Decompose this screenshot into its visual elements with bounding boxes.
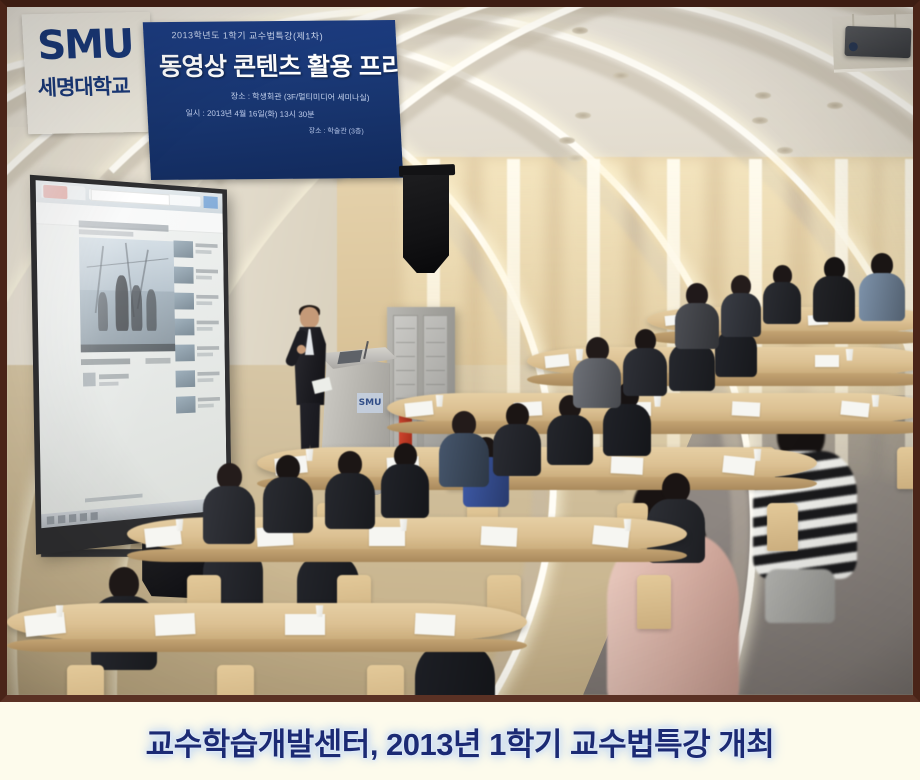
handout-paper — [815, 355, 839, 367]
lecturer-handout — [312, 377, 333, 394]
audience-torso — [547, 415, 593, 465]
audience-torso — [623, 348, 667, 396]
related-thumbnail — [176, 370, 196, 387]
audience-member — [721, 275, 761, 341]
audience-torso — [325, 473, 375, 529]
banner-venue: 장소 : 학생회관 (3F/멀티미디어 세미나실) — [231, 91, 390, 104]
taskbar-icon — [69, 514, 76, 523]
handout-paper — [404, 401, 433, 418]
chair-back — [637, 575, 671, 629]
related-thumbnail — [174, 293, 194, 310]
handout-paper — [154, 613, 195, 636]
paper-cup — [871, 395, 880, 407]
lectern-logo: SMU — [357, 393, 383, 413]
audience-torso — [675, 303, 719, 349]
youtube-related-item — [174, 293, 221, 316]
chair-back — [67, 665, 104, 695]
audience-torso — [763, 282, 801, 324]
handout-paper — [592, 525, 630, 548]
video-figure — [131, 285, 143, 331]
youtube-logo-icon — [43, 185, 67, 199]
taskbar-icon — [58, 515, 65, 524]
audience-member — [675, 283, 719, 353]
video-figure — [115, 275, 129, 331]
ceiling-downlight-icon — [827, 102, 843, 109]
handout-paper — [544, 354, 569, 368]
taskbar-icon — [91, 512, 98, 520]
audience-torso — [439, 433, 489, 487]
related-title — [195, 243, 217, 248]
related-channel — [197, 378, 213, 382]
banner-title: 동영상 콘텐츠 활용 프리젠테이션 — [158, 47, 388, 83]
chair-back — [367, 665, 404, 695]
related-channel — [196, 276, 212, 280]
related-channel — [197, 327, 213, 331]
youtube-related-item — [176, 370, 223, 393]
attendee-trousers — [765, 569, 835, 623]
ceiling-projector — [844, 26, 911, 58]
youtube-related-item — [176, 395, 223, 419]
related-title — [196, 295, 218, 299]
youtube-related-item — [174, 240, 221, 264]
desk-row — [7, 603, 527, 641]
audience-member — [623, 329, 667, 400]
youtube-related-item — [174, 267, 221, 290]
audience-member — [263, 455, 313, 537]
chair-back — [217, 665, 254, 695]
youtube-signin-button — [203, 196, 217, 209]
wall-speaker — [403, 175, 449, 273]
photo-caption: 교수학습개발센터, 2013년 1학기 교수법특강 개최 — [146, 719, 775, 764]
audience-torso — [813, 276, 855, 322]
banner-date: 일시 : 2013년 4월 16일(화) 13시 30분 — [185, 108, 390, 121]
video-progress-bar — [81, 344, 176, 353]
projection-screen — [30, 175, 232, 555]
ceiling-downlight-icon — [575, 112, 591, 119]
audience-torso — [263, 477, 313, 533]
youtube-channel-avatar — [83, 373, 96, 387]
audience-torso — [859, 273, 905, 321]
related-thumbnail — [174, 267, 194, 284]
audience-member — [813, 257, 855, 326]
related-title — [198, 397, 220, 402]
university-logo-panel: SMU 세명대학교 — [22, 12, 157, 134]
youtube-description — [85, 494, 143, 503]
audience-torso — [381, 464, 429, 518]
ceiling-downlight-icon — [559, 137, 575, 144]
audience-member — [573, 337, 621, 412]
youtube-video-player — [79, 237, 175, 352]
related-title — [197, 321, 219, 325]
paper-cup — [435, 395, 444, 407]
taskbar-icon — [80, 513, 87, 521]
related-thumbnail — [174, 240, 194, 257]
youtube-related-list — [174, 240, 223, 400]
smu-logo: SMU — [36, 24, 133, 66]
desk-front-panel — [7, 639, 527, 652]
chair-back — [897, 447, 913, 489]
audience-torso — [573, 358, 621, 408]
youtube-video-subtitle — [79, 229, 134, 236]
ceiling-downlight-icon — [752, 117, 768, 124]
related-channel — [197, 353, 213, 357]
related-title — [197, 346, 219, 350]
banner-extra: 장소 : 학술관 (3층) — [309, 126, 391, 137]
projector-housing — [832, 13, 913, 72]
photo-page: SMU 세명대학교 2013학년도 1학기 교수법특강(제1차) 동영상 콘텐츠… — [0, 0, 920, 780]
lecturer-head — [300, 307, 319, 328]
related-channel — [196, 301, 212, 305]
ceiling-downlight-icon — [613, 72, 629, 79]
paper-cup — [845, 349, 854, 361]
related-title — [197, 372, 219, 376]
related-title — [196, 269, 218, 273]
audience-member — [381, 443, 429, 522]
youtube-view-count — [145, 358, 170, 364]
audience-member — [859, 253, 905, 325]
event-banner: 2013학년도 1학기 교수법특강(제1차) 동영상 콘텐츠 활용 프리젠테이션… — [143, 20, 403, 180]
related-channel — [198, 404, 214, 408]
handout-paper — [414, 613, 455, 636]
handout-paper — [722, 455, 756, 475]
caption-bar: 교수학습개발센터, 2013년 1학기 교수법특강 개최 — [0, 702, 920, 780]
audience-torso — [203, 486, 255, 544]
photo-frame: SMU 세명대학교 2013학년도 1학기 교수법특강(제1차) 동영상 콘텐츠… — [0, 0, 920, 702]
youtube-channel-name — [99, 374, 129, 380]
lecture-hall-photo: SMU 세명대학교 2013학년도 1학기 교수법특강(제1차) 동영상 콘텐츠… — [7, 7, 913, 695]
ceiling-downlight-icon — [572, 27, 588, 34]
handout-paper — [144, 525, 182, 548]
projector-lens-icon — [849, 42, 858, 51]
desk-front-panel — [127, 549, 687, 562]
audience-torso — [721, 293, 761, 337]
audience-member — [763, 265, 801, 328]
audience-torso — [493, 424, 541, 476]
projected-image — [36, 180, 227, 528]
handout-paper — [481, 526, 518, 547]
youtube-related-item — [175, 319, 222, 341]
video-figure — [146, 289, 157, 331]
ceiling-downlight-icon — [755, 92, 771, 99]
video-figure — [98, 292, 108, 331]
related-channel — [196, 250, 212, 254]
related-thumbnail — [176, 396, 196, 413]
handout-paper — [840, 401, 869, 418]
handout-paper — [285, 614, 325, 635]
projector-rod — [894, 12, 897, 28]
related-thumbnail — [175, 345, 195, 362]
ceiling-downlight-icon — [777, 147, 793, 154]
youtube-related-item — [175, 344, 222, 367]
handout-paper — [732, 401, 761, 416]
banner-kicker: 2013학년도 1학기 교수법특강(제1차) — [171, 28, 386, 43]
audience-member — [203, 463, 255, 548]
audience-member — [325, 451, 375, 533]
chair-back — [767, 503, 798, 551]
audience-member — [439, 411, 489, 491]
youtube-channel-subs — [99, 382, 118, 386]
related-thumbnail — [175, 319, 195, 336]
youtube-meta — [81, 358, 130, 365]
university-name: 세명대학교 — [37, 70, 130, 102]
taskbar-icon — [47, 516, 55, 525]
audience-member — [493, 403, 541, 480]
